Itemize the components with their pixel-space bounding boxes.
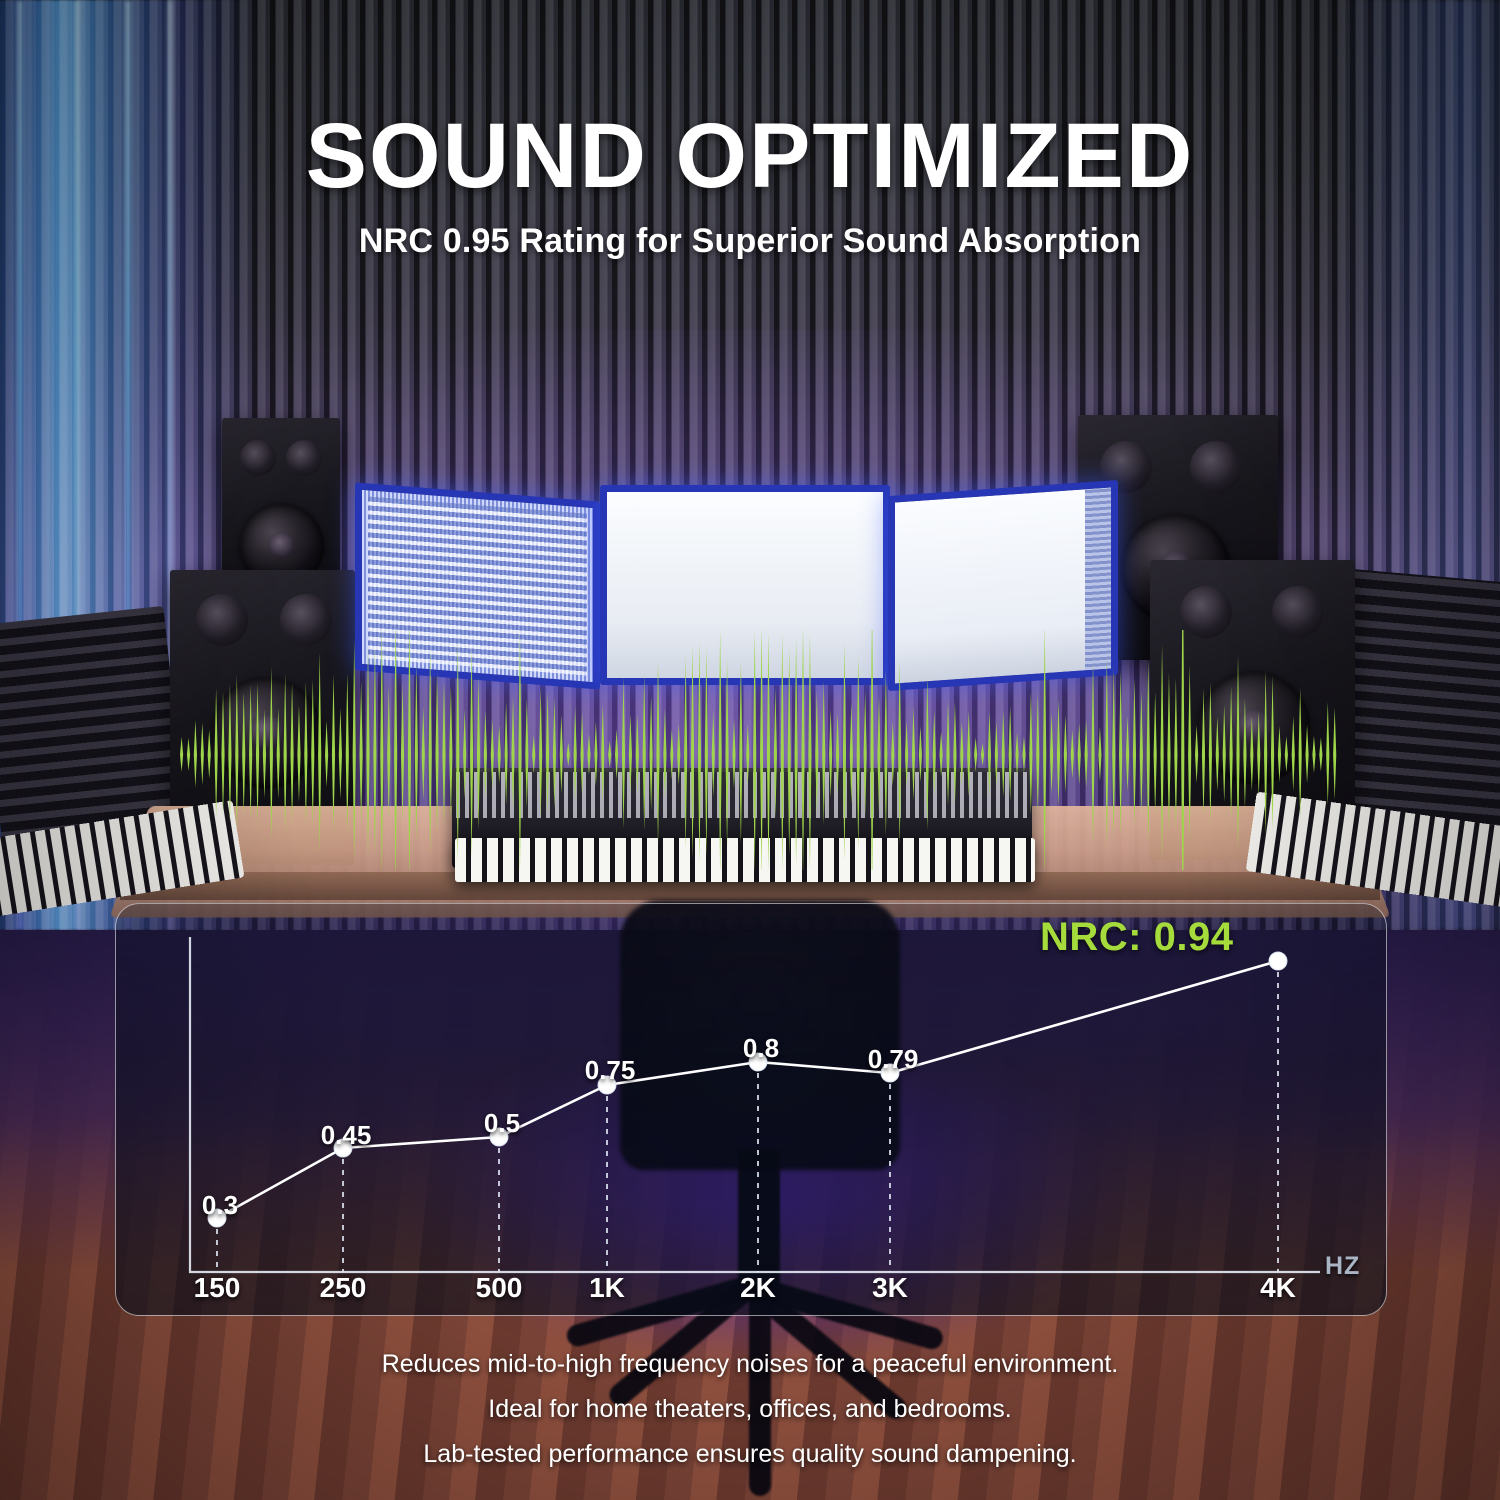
page-subtitle: NRC 0.95 Rating for Superior Sound Absor… bbox=[0, 222, 1500, 261]
feature-bullet-list: Reduces mid-to-high frequency noises for… bbox=[0, 1352, 1500, 1487]
x-tick-500: 500 bbox=[476, 1272, 523, 1304]
nrc-value-badge: NRC: 0.94 bbox=[1040, 915, 1233, 960]
x-tick-4K: 4K bbox=[1260, 1272, 1296, 1304]
x-tick-250: 250 bbox=[320, 1272, 367, 1304]
nrc-chart-panel bbox=[115, 903, 1387, 1316]
bullet-line-3: Lab-tested performance ensures quality s… bbox=[0, 1442, 1500, 1467]
data-label-150: 0.3 bbox=[202, 1190, 238, 1221]
x-tick-1K: 1K bbox=[589, 1272, 625, 1304]
x-tick-2K: 2K bbox=[740, 1272, 776, 1304]
data-label-1K: 0.75 bbox=[585, 1055, 636, 1086]
axis-label-hz: HZ bbox=[1325, 1252, 1360, 1281]
bullet-line-1: Reduces mid-to-high frequency noises for… bbox=[0, 1352, 1500, 1377]
promo-image: SOUND OPTIMIZED NRC 0.95 Rating for Supe… bbox=[0, 0, 1500, 1500]
data-label-2K: 0.8 bbox=[743, 1033, 779, 1064]
bullet-line-2: Ideal for home theaters, offices, and be… bbox=[0, 1397, 1500, 1422]
x-tick-3K: 3K bbox=[872, 1272, 908, 1304]
page-title: SOUND OPTIMIZED bbox=[0, 104, 1500, 209]
data-label-250: 0.45 bbox=[321, 1120, 372, 1151]
data-label-3K: 0.79 bbox=[868, 1044, 919, 1075]
x-tick-150: 150 bbox=[194, 1272, 241, 1304]
audio-waveform-overlay bbox=[180, 630, 1340, 870]
data-label-500: 0.5 bbox=[484, 1108, 520, 1139]
